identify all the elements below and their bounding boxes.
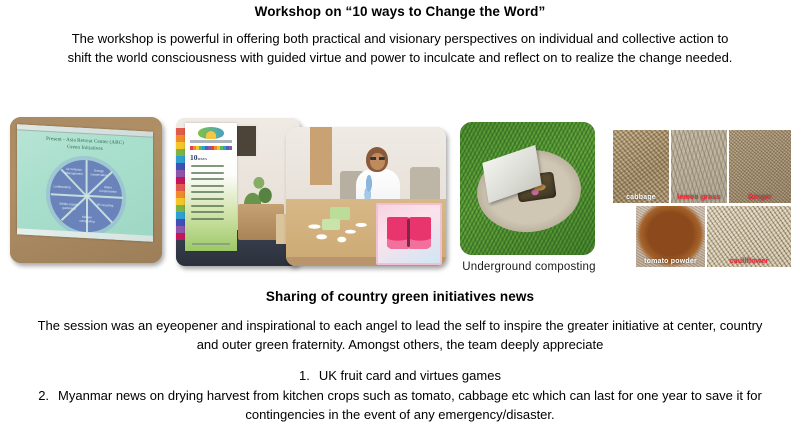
underground-composting-photo [460, 122, 595, 255]
wheel-label-composting: Kitchen composting [76, 215, 98, 223]
sharing-numbered-list: 1.UK fruit card and virtues games 2.Myan… [18, 366, 782, 425]
tile-label-tomato-powder: tomato powder [636, 258, 705, 265]
underground-composting-caption: Underground composting [455, 261, 603, 273]
woman-at-table-photo [286, 127, 446, 266]
workshop-paragraph: The workshop is powerful in offering bot… [62, 29, 738, 67]
butterfly-painting [376, 203, 442, 265]
bullet-line [191, 218, 224, 220]
exhibition-banner-photo: 10WAYS [176, 118, 300, 266]
door-frame [310, 127, 332, 185]
list-item-marker: 2. [38, 386, 58, 406]
bullet-line [191, 211, 224, 213]
potted-plant [240, 166, 282, 208]
wheel-label-airpollution: Air Pollution Management [63, 168, 85, 176]
tile-cabbage: cabbage [613, 130, 669, 203]
tile-lemon-grass: lemon grass [671, 130, 727, 203]
banner-headline-number: 10 [190, 153, 198, 162]
wheel-spoke [87, 195, 123, 199]
organisation-name-line [190, 140, 232, 143]
tile-cauliflower: cauliflower [707, 206, 791, 267]
rollup-banner: 10WAYS [185, 123, 237, 251]
projector-slide-photo: Present - Asia Retreat Center (ARC) Gree… [10, 117, 162, 263]
banner-headline: 10WAYS [190, 153, 207, 162]
list-item: 1.UK fruit card and virtues games [18, 366, 782, 386]
sharing-paragraph: The session was an eyeopener and inspira… [36, 316, 764, 354]
projection-screen: Present - Asia Retreat Center (ARC) Gree… [17, 124, 153, 242]
bullet-line [191, 178, 224, 180]
tile-label-lemon-grass: lemon grass [671, 194, 727, 201]
wheel-spoke [86, 160, 88, 196]
color-chips [190, 146, 232, 150]
person-face [370, 153, 385, 170]
list-item-text: UK fruit card and virtues games [319, 368, 501, 383]
wheel-label-water: Water Conservation [97, 186, 119, 194]
butterfly-body [407, 219, 410, 247]
tile-label-cabbage: cabbage [613, 194, 669, 201]
tile-ginger: Ginger [729, 130, 791, 203]
dried-crops-collage: cabbage lemon grass Ginger tomato powder… [613, 130, 791, 267]
wheel-spoke [51, 193, 87, 197]
sunrise-logo-icon [198, 127, 224, 139]
bullet-line [191, 205, 224, 207]
list-item-text: Myanmar news on drying harvest from kitc… [58, 388, 762, 423]
sharing-title: Sharing of country green initiatives new… [0, 289, 800, 304]
green-card [322, 219, 340, 230]
bullet-line [191, 172, 224, 174]
banner-url-line [192, 243, 230, 245]
color-strip [176, 128, 185, 240]
eyeglasses-icon [370, 157, 385, 160]
bullet-line [191, 165, 224, 167]
banner-bullet-list [191, 165, 233, 224]
tile-label-ginger: Ginger [729, 194, 791, 201]
workshop-title: Workshop on “10 ways to Change the Word” [0, 4, 800, 19]
tile-label-cauliflower: cauliflower [707, 258, 791, 265]
bullet-line [191, 191, 224, 193]
green-initiatives-wheel: Energy conservation Water Conservation 3… [50, 158, 122, 234]
list-item-marker: 1. [299, 366, 319, 386]
tile-tomato-powder: tomato powder [636, 206, 705, 267]
wheel-label-landscaping: Landscaping [51, 185, 73, 190]
document-page: Workshop on “10 ways to Change the Word”… [0, 0, 800, 434]
bullet-line [191, 185, 224, 187]
list-item: 2.Myanmar news on drying harvest from ki… [18, 386, 782, 425]
wheel-label-energy: Energy conservation [88, 169, 110, 177]
banner-headline-word: WAYS [198, 157, 208, 161]
wheel-label-gardening: Edible organic gardening [58, 202, 80, 210]
bullet-line [191, 198, 224, 200]
